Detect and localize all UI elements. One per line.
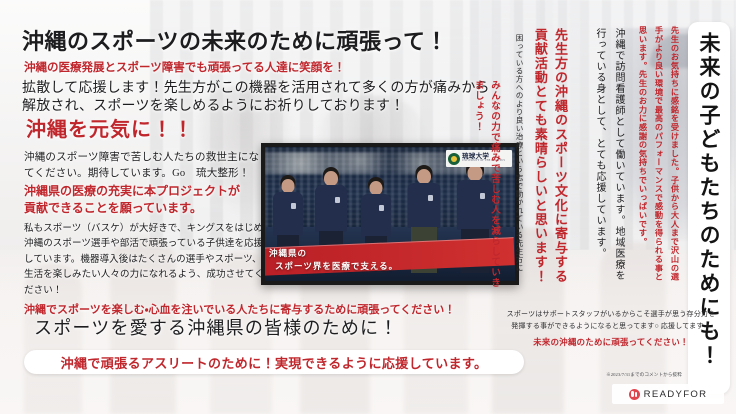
readyfor-wordmark: READYFOR [644, 389, 708, 400]
vertical-comment-red-1: 先生のお気持ちに感銘を受けました。子供から大人まで沢山の選手がより良い環境で最高… [634, 26, 682, 284]
readyfor-mark-icon [629, 389, 640, 400]
bottom-banner-pill: 沖縄で頑張るアスリートのために！実現できるように応援しています。 [24, 350, 524, 374]
supporter-comment-paragraph-4: 私もスポーツ（バスケ）が大好きで、キングスをはじめ 沖縄のスポーツ選手や部活で頑… [24, 222, 264, 299]
readyfor-logo: READYFOR [612, 384, 724, 404]
bottom-right-comment-1: スポーツはサポートスタッフがいるからこそ選手が思う存分力を 発揮する事ができるよ… [492, 308, 730, 333]
supporter-comment-red-2: 沖縄でスポーツを楽しむ・心血を注いでいる人たちに寄与するために頑張ってください！ [24, 303, 455, 317]
supporter-comment-paragraph-1: 拡散して応援します！先生方がこの機器を活用されて多くの方が痛みから 解放され、ス… [22, 80, 490, 116]
bottom-banner-text: 沖縄で頑張るアスリートのために！実現できるように応援しています。 [61, 353, 488, 372]
page-title: 沖縄のスポーツの未来のために頑張って！ [22, 28, 448, 56]
photo-caption-line-1: 沖縄県の [269, 247, 398, 260]
supporter-comment-paragraph-3: 沖縄県の医療の充実に本プロジェクトが 貢献できることを願っています。 [24, 183, 240, 218]
vertical-comment-dark-1: 沖縄で訪問看護師として働いています。地域医療を行っている身として、とても応援して… [590, 28, 628, 284]
poster-canvas: 沖縄のスポーツの未来のために頑張って！ 沖縄の医療発展とスポーツ障害でも頑張って… [0, 0, 736, 414]
section-heading-genki: 沖縄を元気に！！ [26, 118, 194, 144]
vertical-comment-red-2: 先生方の沖縄のスポーツ文化に寄与する貢献活動とても素晴らしいと思います！ [530, 28, 570, 290]
supporter-comment-paragraph-2: 沖縄のスポーツ障害で苦しむ人たちの救世主になっ てください。期待しています。Go… [24, 150, 270, 182]
section-heading-minasama: スポーツを愛する沖縄県の皆様のために！ [34, 317, 398, 340]
supporter-comment-red-1: 沖縄の医療発展とスポーツ障害でも頑張ってる人達に笑顔を！ [24, 61, 345, 76]
photo-caption-line-2: スポーツ界を医療で支える。 [269, 260, 398, 273]
vertical-comment-red-3: みんなの力で痛みで苦しむ人を減らしていきましょう！ [469, 80, 502, 296]
comment-source-credit: ※2023/7/31までのコメントから抜粋 [556, 372, 732, 378]
vertical-comment-dark-2: 困っている方へのより良い治療という志で動かれている先生方に [511, 34, 526, 292]
university-emblem-icon [448, 153, 460, 165]
photo-caption: 沖縄県の スポーツ界を医療で支える。 [269, 247, 398, 273]
bottom-right-comment-2: 未来の沖縄のために頑張ってください！ [492, 338, 730, 349]
